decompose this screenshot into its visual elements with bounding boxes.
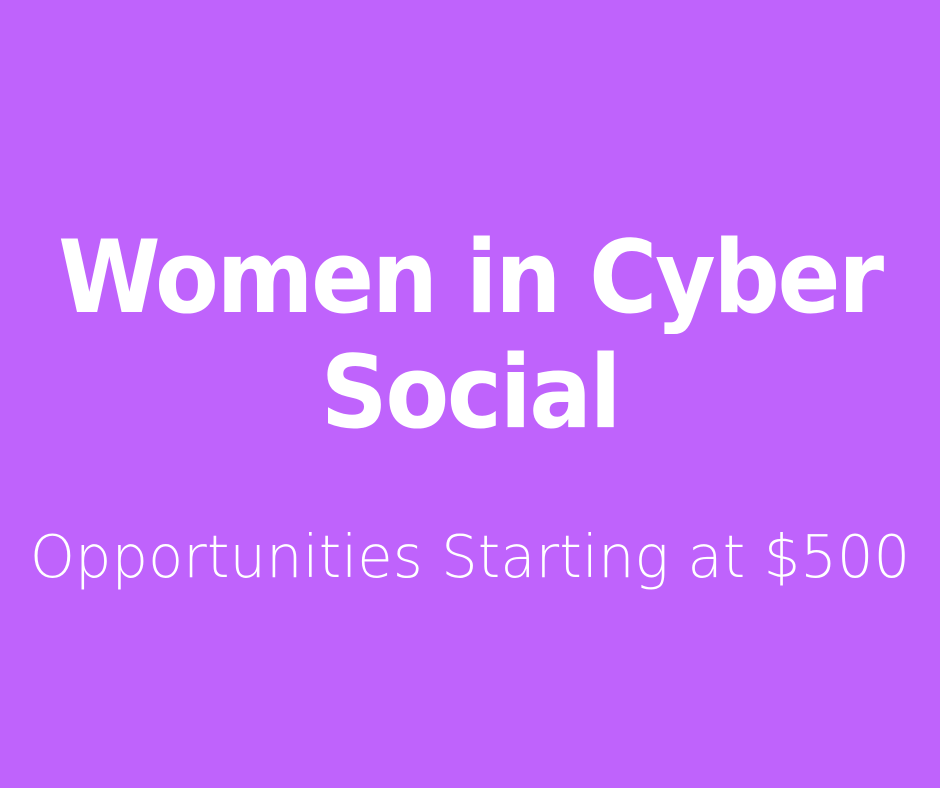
- promo-poster: Women in Cyber Social Opportunities Star…: [0, 0, 940, 788]
- subtitle-text: Opportunities Starting at $500: [14, 521, 926, 593]
- page-title: Women in Cyber Social: [38, 220, 903, 450]
